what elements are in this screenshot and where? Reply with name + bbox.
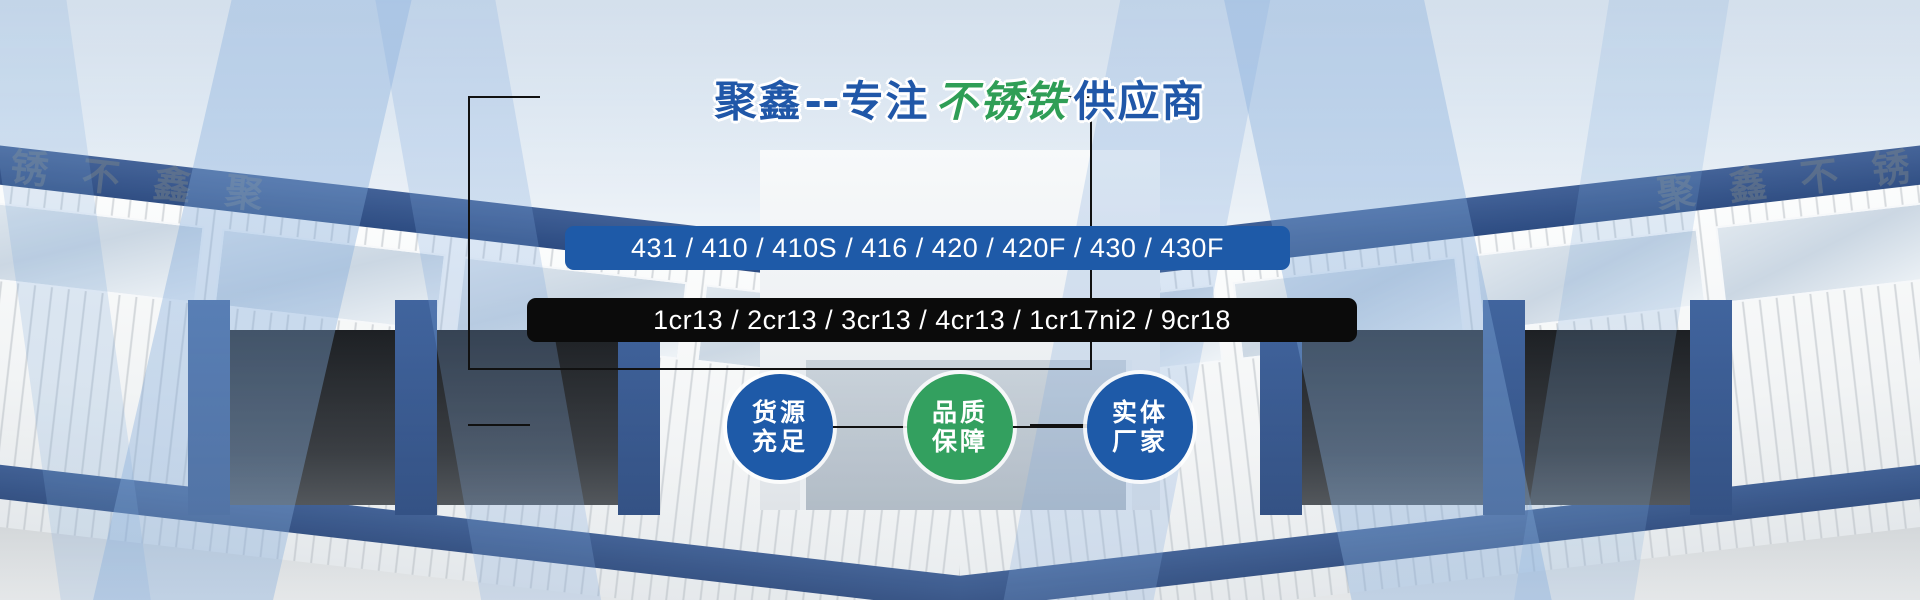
wall-signage-char: 锈: [8, 136, 52, 195]
badge-supply: 货源 充足: [727, 374, 833, 480]
feature-badge-row: 货源 充足 品质 保障 实体 厂家: [0, 372, 1920, 482]
badge-factory-line1: 实体: [1112, 398, 1168, 427]
frame-top-rule-right: [1016, 96, 1092, 98]
badge-quality-line2: 保障: [932, 427, 988, 456]
wall-signage-char: 不: [79, 144, 123, 203]
badge-connector: [1013, 426, 1087, 428]
wall-signage-char: 聚: [1654, 160, 1698, 219]
promo-banner: 锈 不 鑫 聚 聚 鑫 不 锈 聚鑫 -- 专注 不锈铁 供应商 431 / 4…: [0, 0, 1920, 600]
badge-supply-line2: 充足: [752, 427, 808, 456]
badge-factory-line2: 厂家: [1112, 427, 1168, 456]
wall-signage-char: 锈: [1868, 136, 1912, 195]
grade-bar-secondary: 1cr13 / 2cr13 / 3cr13 / 4cr13 / 1cr17ni2…: [527, 298, 1357, 342]
badge-quality: 品质 保障: [907, 374, 1013, 480]
badge-quality-line1: 品质: [932, 398, 988, 427]
wall-signage-char: 聚: [222, 160, 266, 219]
badge-supply-line1: 货源: [752, 398, 808, 427]
badge-connector: [833, 426, 907, 428]
wall-signage-char: 不: [1797, 144, 1841, 203]
badge-factory: 实体 厂家: [1087, 374, 1193, 480]
frame-top-rule-left: [468, 96, 540, 98]
grade-bar-primary: 431 / 410 / 410S / 416 / 420 / 420F / 43…: [565, 226, 1290, 270]
wall-signage-char: 鑫: [151, 152, 195, 211]
wall-signage-char: 鑫: [1725, 152, 1769, 211]
